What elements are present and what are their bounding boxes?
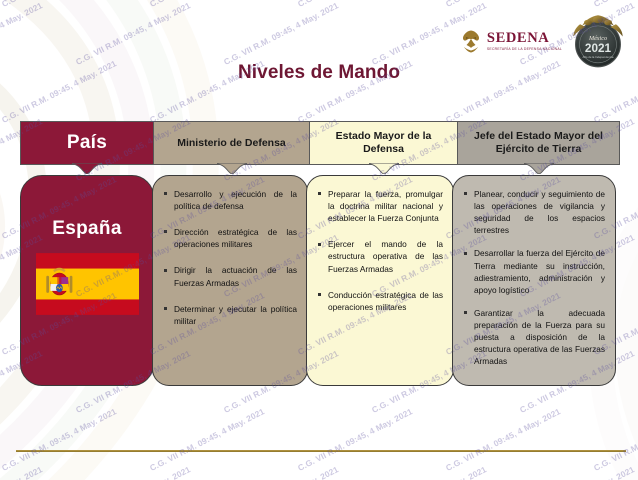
slide-canvas: SEDENA SECRETARÍA DE LA DEFENSA NACIONAL: [0, 0, 638, 480]
list-item: Preparar la fuerza, promulgar la doctrin…: [317, 188, 443, 224]
country-name: España: [52, 218, 121, 240]
table-header-label: País: [67, 131, 107, 154]
watermark-text: C.G. VII R.M. 09:45, 4 May. 2021: [444, 0, 562, 9]
list-item: Garantizar la adecuada preparación de la…: [463, 307, 605, 368]
sedena-subtitle: SECRETARÍA DE LA DEFENSA NACIONAL: [487, 48, 562, 51]
table-header-label: Estado Mayor de la Defensa: [314, 130, 453, 156]
watermark-text: C.G. VII R.M. 09:45, 4 May. 2021: [0, 0, 44, 67]
footer-gold-rule: [16, 450, 626, 452]
seal-caption-text: Año de la Independencia: [583, 55, 614, 59]
watermark-text: C.G. VII R.M. 09:45, 4 May. 2021: [0, 464, 44, 480]
bullet-list-ministerio: Desarrollo y ejecución de la política de…: [163, 188, 297, 327]
header-notch-icon: [369, 163, 399, 174]
header-notch-icon: [217, 163, 247, 174]
watermark-text: C.G. VII R.M. 09:45, 4 May. 2021: [370, 464, 488, 480]
watermark-text: C.G. VII R.M. 09:45, 4 May. 2021: [148, 406, 266, 473]
mexico-2021-seal-icon: México 2021 Año de la Independencia: [570, 13, 626, 69]
watermark-text: C.G. VII R.M. 09:45, 4 May. 2021: [444, 406, 562, 473]
list-item: Desarrollar la fuerza del Ejército de Ti…: [463, 247, 605, 295]
list-item: Conducción estratégica de las operacione…: [317, 289, 443, 313]
spain-flag-icon: [36, 253, 139, 315]
bullet-list-estado-mayor: Preparar la fuerza, promulgar la doctrin…: [317, 188, 443, 313]
watermark-text: C.G. VII R.M. 09:45, 4 May. 2021: [592, 0, 638, 9]
mexican-eagle-icon: [460, 28, 482, 54]
seal-country-text: México: [588, 36, 607, 42]
table-header-label: Ministerio de Defensa: [177, 137, 286, 150]
watermark-text: C.G. VII R.M. 09:45, 4 May. 2021: [0, 0, 118, 9]
table-header-estado-mayor-de-la-defensa: Estado Mayor de la Defensa: [310, 121, 458, 165]
sedena-name: SEDENA: [487, 31, 562, 46]
watermark-text: C.G. VII R.M. 09:45, 4 May. 2021: [296, 406, 414, 473]
watermark-text: C.G. VII R.M. 09:45, 4 May. 2021: [222, 464, 340, 480]
list-item: Dirección estratégica de las operaciones…: [163, 226, 297, 250]
header-notch-icon: [524, 163, 554, 174]
watermark-text: C.G. VII R.M. 09:45, 4 May. 2021: [0, 406, 118, 473]
watermark-text: C.G. VII R.M. 09:45, 4 May. 2021: [592, 406, 638, 473]
table-body-row: España: [20, 175, 620, 386]
table-header-ministerio-de-defensa: Ministerio de Defensa: [154, 121, 310, 165]
watermark-text: C.G. VII R.M. 09:45, 4 May. 2021: [296, 0, 414, 9]
watermark-text: C.G. VII R.M. 09:45, 4 May. 2021: [148, 0, 266, 9]
watermark-text: C.G. VII R.M. 09:45, 4 May. 2021: [74, 0, 192, 67]
seal-year-text: 2021: [585, 42, 612, 55]
sedena-logo: SEDENA SECRETARÍA DE LA DEFENSA NACIONAL: [460, 28, 562, 54]
watermark-text: C.G. VII R.M. 09:45, 4 May. 2021: [74, 464, 192, 480]
table-cell-jefe-del-estado-mayor: Planear, conducir y seguimiento de las o…: [452, 175, 616, 386]
watermark-text: C.G. VII R.M. 09:45, 4 May. 2021: [222, 0, 340, 67]
table-header-pais: País: [20, 121, 154, 165]
page-title: Niveles de Mando: [0, 62, 638, 84]
watermark-text: C.G. VII R.M. 09:45, 4 May. 2021: [518, 464, 636, 480]
table-cell-estado-mayor-de-la-defensa: Preparar la fuerza, promulgar la doctrin…: [306, 175, 454, 386]
table-header-label: Jefe del Estado Mayor del Ejército de Ti…: [462, 130, 615, 156]
table-cell-country-espana: España: [20, 175, 154, 386]
header-logos: SEDENA SECRETARÍA DE LA DEFENSA NACIONAL: [460, 13, 626, 69]
list-item: Ejercer el mando de la estructura operat…: [317, 238, 443, 274]
list-item: Determinar y ejecutar la política milita…: [163, 303, 297, 327]
bullet-list-jefe-estado-mayor: Planear, conducir y seguimiento de las o…: [463, 188, 605, 367]
list-item: Dirigir la actuación de las Fuerzas Arma…: [163, 264, 297, 288]
table-header-row: País Ministerio de Defensa Estado Mayor …: [20, 121, 620, 165]
table-cell-ministerio-de-defensa: Desarrollo y ejecución de la política de…: [152, 175, 308, 386]
list-item: Desarrollo y ejecución de la política de…: [163, 188, 297, 212]
table-header-jefe-del-estado-mayor-del-ejercito-de-tierra: Jefe del Estado Mayor del Ejército de Ti…: [458, 121, 620, 165]
header-notch-icon: [72, 163, 102, 174]
levels-of-command-table: País Ministerio de Defensa Estado Mayor …: [20, 121, 620, 386]
list-item: Planear, conducir y seguimiento de las o…: [463, 188, 605, 236]
